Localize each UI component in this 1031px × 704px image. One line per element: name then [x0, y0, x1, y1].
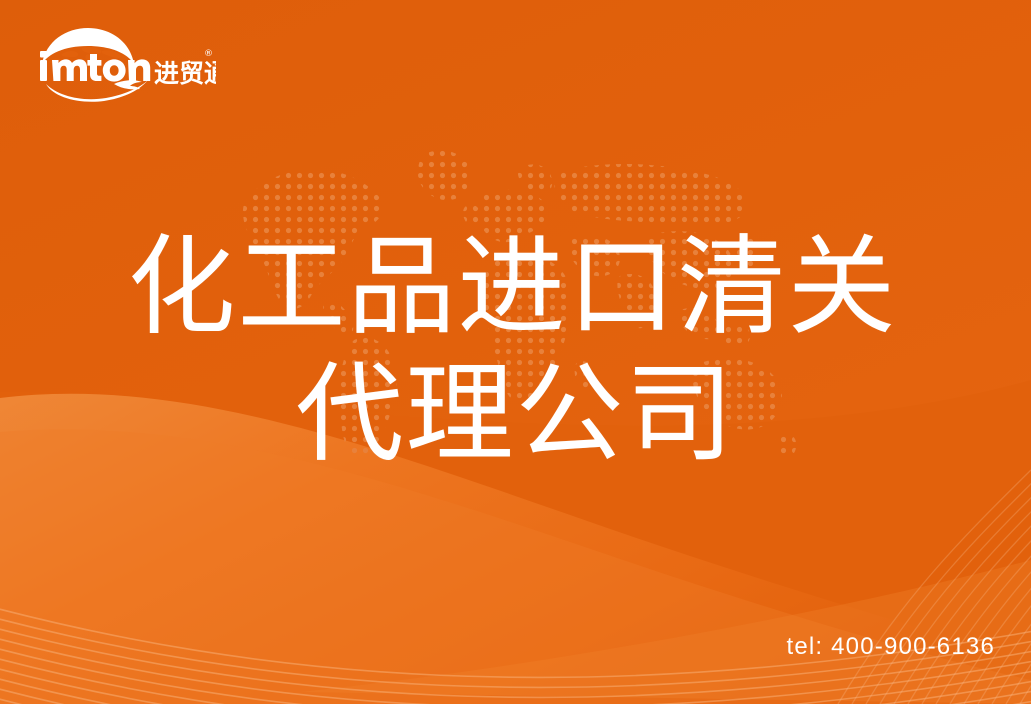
registered-trademark-icon: ® [204, 49, 213, 59]
logo-chinese-name: 进贸通 [154, 59, 216, 88]
promo-banner: 进贸通 ® 化工品进口清关 代理公司 tel: 400-900-6136 [0, 0, 1031, 704]
logo-wordmark [40, 51, 150, 82]
company-logo[interactable]: 进贸通 ® [36, 24, 216, 102]
headline-line-2: 代理公司 [0, 355, 1031, 476]
globe-arc-icon [42, 28, 134, 64]
headline: 化工品进口清关 代理公司 [0, 228, 1031, 476]
headline-line-1: 化工品进口清关 [0, 228, 1031, 349]
swoosh-arrow-icon [46, 80, 148, 102]
phone-number[interactable]: tel: 400-900-6136 [786, 633, 995, 661]
